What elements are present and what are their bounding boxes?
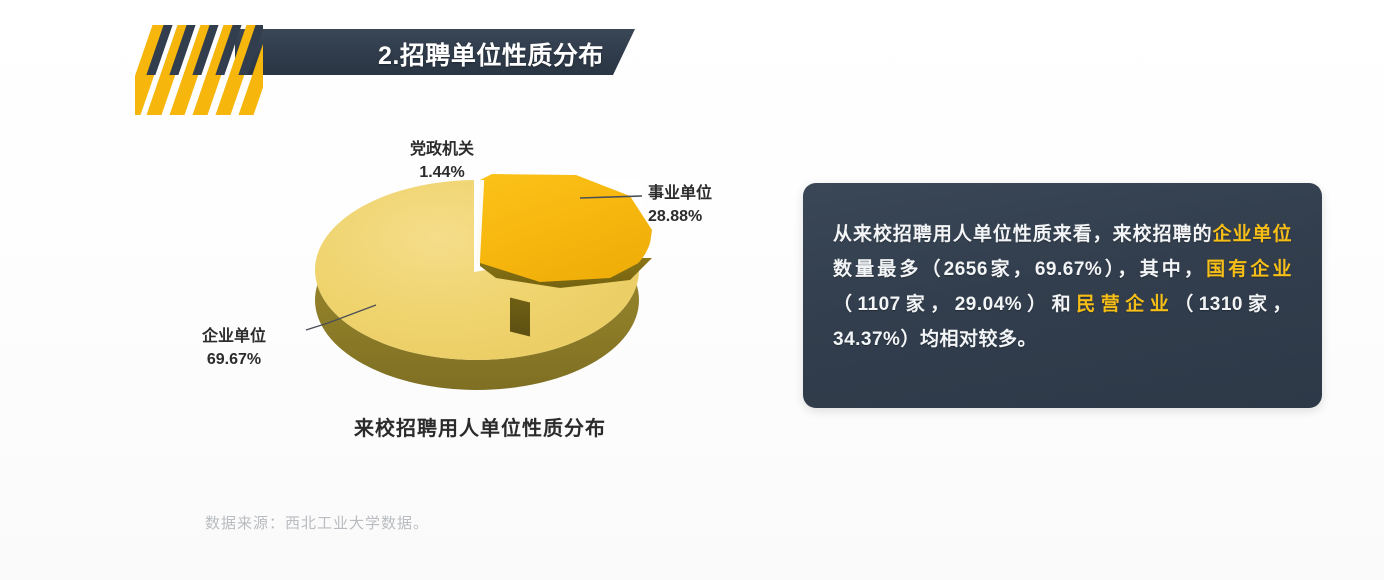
commentary-highlight: 民营企业	[1076, 294, 1174, 315]
slide-canvas: 2.招聘单位性质分布 党政机关 1.44% 事业单位 28.88%	[0, 0, 1384, 580]
pie-label-government-name: 党政机关	[410, 138, 474, 161]
header-banner: 2.招聘单位性质分布	[135, 25, 645, 115]
commentary-highlight: 企业单位	[1213, 224, 1292, 245]
commentary-segment: 从来校招聘用人单位性质来看，来校招聘的	[833, 224, 1213, 245]
source-footnote: 数据来源：西北工业大学数据。	[205, 512, 429, 533]
leader-lines	[180, 130, 780, 460]
commentary-segment: 数量最多（2656家，69.67%），其中，	[833, 259, 1206, 280]
pie-label-enterprise-percent: 69.67%	[202, 348, 266, 371]
page-title: 2.招聘单位性质分布	[378, 36, 604, 72]
pie-label-institution: 事业单位 28.88%	[648, 182, 712, 228]
commentary-highlight: 国有企业	[1206, 259, 1292, 280]
pie-label-enterprise-name: 企业单位	[202, 325, 266, 348]
decorative-stripes	[135, 25, 263, 115]
commentary-box: 从来校招聘用人单位性质来看，来校招聘的企业单位数量最多（2656家，69.67%…	[803, 183, 1322, 408]
pie-label-institution-name: 事业单位	[648, 182, 712, 205]
pie-label-government-percent: 1.44%	[410, 161, 474, 184]
pie-label-institution-percent: 28.88%	[648, 205, 712, 228]
pie-label-enterprise: 企业单位 69.67%	[202, 325, 266, 371]
commentary-segment: （1107家，29.04%）和	[833, 294, 1076, 315]
pie-chart: 党政机关 1.44% 事业单位 28.88% 企业单位 69.67% 来校招聘用…	[180, 130, 780, 460]
commentary-text: 从来校招聘用人单位性质来看，来校招聘的企业单位数量最多（2656家，69.67%…	[833, 217, 1292, 358]
pie-label-government: 党政机关 1.44%	[410, 138, 474, 184]
